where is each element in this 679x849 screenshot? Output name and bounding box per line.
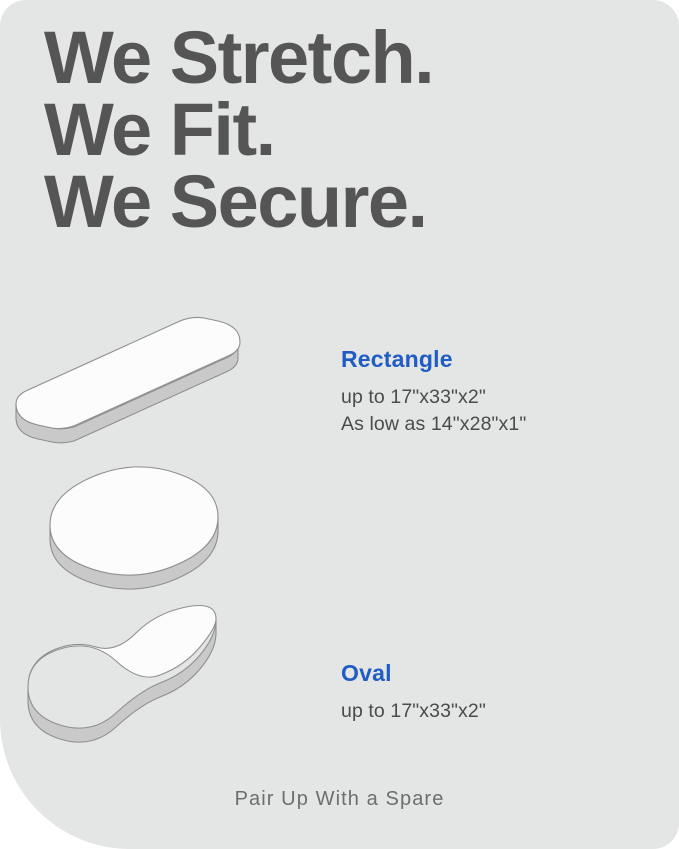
list-item: Oval up to 17"x33"x2"	[0, 453, 679, 603]
headline-line-1: We Stretch.	[44, 22, 634, 94]
product-spec: up to 17"x33"x2"	[341, 384, 526, 410]
product-title: Rectangle	[341, 347, 526, 372]
peanut-pad-icon	[0, 603, 260, 778]
footer: Pair Up With a Spare	[0, 788, 679, 811]
list-item: Rectangle up to 17"x33"x2" As low as 14"…	[0, 300, 679, 453]
footer-tagline: Pair Up With a Spare	[235, 788, 445, 811]
product-list: Rectangle up to 17"x33"x2" As low as 14"…	[0, 300, 679, 755]
list-item: Peanut or Hour Glass up to 18"x30"x2"	[0, 603, 679, 755]
rectangle-pad-icon	[0, 300, 260, 470]
headline-line-3: We Secure.	[44, 166, 634, 238]
product-spec-secondary: As low as 14"x28"x1"	[341, 411, 526, 437]
oval-pad-icon	[0, 453, 260, 623]
promo-poster: We Stretch. We Fit. We Secure. Rectangle…	[0, 0, 679, 849]
headline-line-2: We Fit.	[44, 94, 634, 166]
product-copy: Rectangle up to 17"x33"x2" As low as 14"…	[341, 347, 526, 437]
page-title: We Stretch. We Fit. We Secure.	[44, 22, 634, 237]
